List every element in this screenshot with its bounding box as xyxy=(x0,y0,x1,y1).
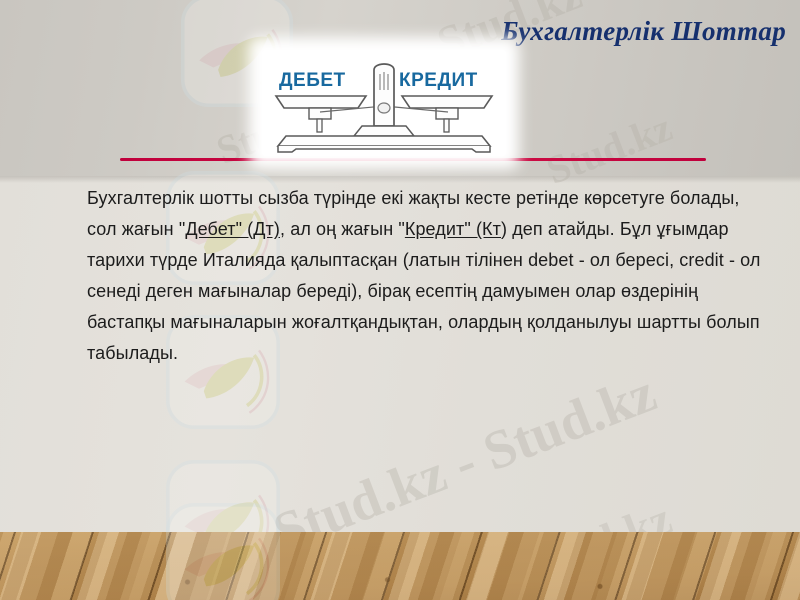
slide-title: Бухгалтерлік Шоттар xyxy=(501,16,786,47)
slide-body-text: Бухгалтерлік шотты сызба түрінде екі жақ… xyxy=(87,183,767,369)
balance-scale-drawing: ДЕБЕТ КРЕДИТ xyxy=(262,50,506,156)
body-text-run: , ал оң жағын " xyxy=(280,219,405,239)
presentation-slide: Stud.kz Stud.kz Stud.kz Stud.kz - Stud.k… xyxy=(0,0,800,600)
background-band-divider-shadow xyxy=(0,176,800,183)
body-text-run: ) деп атайды. Бұл ұғымдар тарихи түрде И… xyxy=(87,219,761,363)
debit-label: ДЕБЕТ xyxy=(279,70,346,91)
underlined-term: Кредит" (Кт xyxy=(405,219,501,239)
title-divider-rule xyxy=(120,158,706,161)
balance-scale-illustration: ДЕБЕТ КРЕДИТ xyxy=(262,50,506,156)
underlined-term: Дебет" (Дт) xyxy=(185,219,280,239)
wooden-floor xyxy=(0,532,800,600)
credit-label: КРЕДИТ xyxy=(399,70,478,91)
